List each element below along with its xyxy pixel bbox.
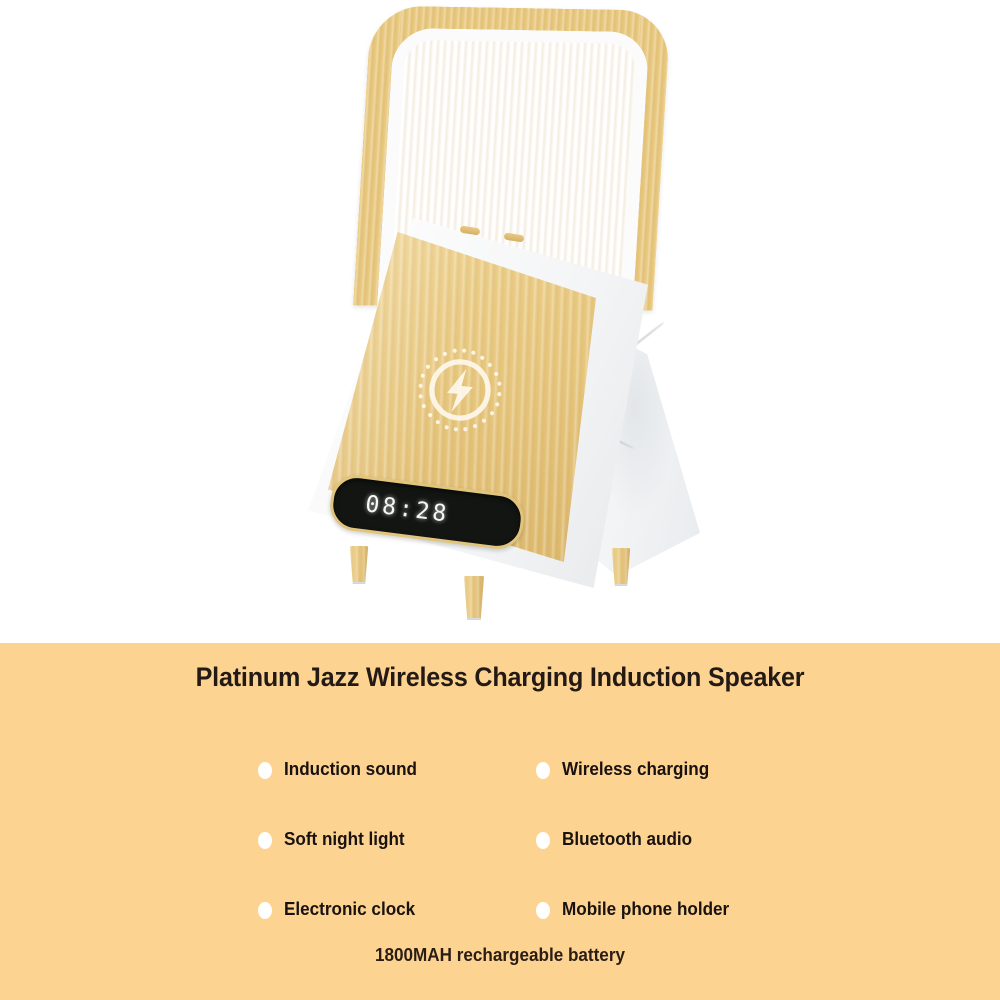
speaker-leg-left — [348, 546, 370, 584]
feature-label: Induction sound — [284, 758, 417, 781]
feature-item-bluetooth-audio: Bluetooth audio — [536, 805, 818, 875]
feature-item-induction-sound: Induction sound — [258, 735, 536, 805]
page-title: Platinum Jazz Wireless Charging Inductio… — [35, 662, 965, 693]
clock-time-text: 08:28 — [364, 491, 451, 527]
bullet-icon — [258, 832, 272, 849]
feature-label: Electronic clock — [284, 898, 415, 921]
feature-label: Wireless charging — [562, 758, 709, 781]
product-photo-area: 08:28 — [0, 0, 1000, 643]
feature-label: Soft night light — [284, 828, 405, 851]
product-info-panel: Platinum Jazz Wireless Charging Inductio… — [0, 643, 1000, 1000]
bullet-icon — [536, 832, 550, 849]
bullet-icon — [258, 902, 272, 919]
bullet-icon — [536, 762, 550, 779]
product-promo-page: 08:28 Platinum Jazz Wireless Charging In… — [0, 0, 1000, 1000]
feature-item-wireless-charging: Wireless charging — [536, 735, 818, 805]
feature-item-electronic-clock: Electronic clock — [258, 875, 536, 945]
lightning-bolt-icon — [403, 333, 517, 447]
battery-note: 1800MAH rechargeable battery — [25, 945, 975, 966]
feature-label: Mobile phone holder — [562, 898, 729, 921]
bullet-icon — [258, 762, 272, 779]
feature-list: Induction sound Wireless charging Soft n… — [258, 735, 818, 945]
product-illustration: 08:28 — [280, 0, 720, 643]
feature-label: Bluetooth audio — [562, 828, 692, 851]
bullet-icon — [536, 902, 550, 919]
speaker-leg-middle — [462, 576, 486, 620]
feature-item-soft-night-light: Soft night light — [258, 805, 536, 875]
feature-item-mobile-phone-holder: Mobile phone holder — [536, 875, 818, 945]
